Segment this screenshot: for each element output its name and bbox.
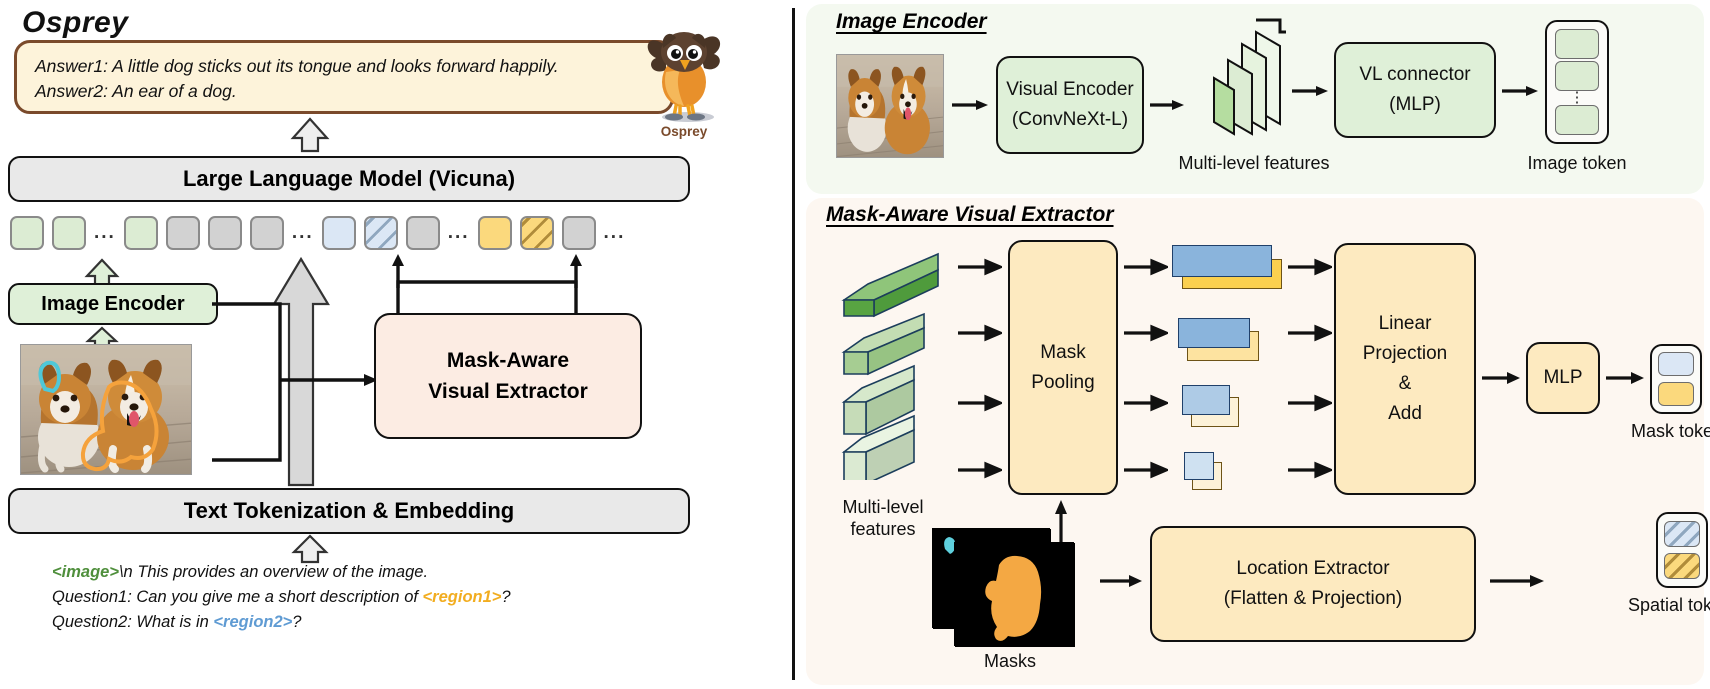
token-gray — [562, 216, 596, 250]
pooled-feature-pair — [1178, 318, 1268, 362]
token-ellipsis: ... — [604, 222, 626, 244]
image-encoder-panel-title: Image Encoder — [836, 10, 987, 34]
arrows-pooled-to-linear — [1288, 258, 1332, 490]
llm-label: Large Language Model (Vicuna) — [183, 166, 515, 192]
mave-multi-level-caption: Multi-level features — [818, 496, 948, 540]
spatial-token-stack — [1656, 512, 1708, 588]
pooled-blue — [1172, 245, 1272, 277]
mask-pooling-block: Mask Pooling — [1008, 240, 1118, 495]
prompt-line-3: Question2: What is in <region2>? — [52, 610, 511, 635]
mask-pooling-label-line2: Pooling — [1031, 368, 1094, 398]
mask-token-yellow — [1658, 382, 1694, 406]
text-tokenization-label: Text Tokenization & Embedding — [184, 498, 514, 524]
token-yellow-hatch — [520, 216, 554, 250]
region1-tag: <region1> — [423, 588, 502, 606]
vl-connector-label-line1: VL connector — [1359, 60, 1470, 90]
image-token-item — [1555, 105, 1599, 135]
pooled-feature-pair — [1184, 452, 1244, 494]
visual-encoder-label-line1: Visual Encoder — [1006, 75, 1133, 105]
prompt-text: <image>\n This provides an overview of t… — [52, 560, 511, 635]
spatial-token-caption: Spatial token — [1596, 594, 1710, 616]
panel-divider — [792, 8, 795, 680]
token-blue — [322, 216, 356, 250]
osprey-mascot-icon — [636, 18, 732, 126]
mascot-label: Osprey — [636, 124, 732, 139]
token-gray — [406, 216, 440, 250]
diagram-root: Osprey Answer1: A little dog sticks out … — [0, 0, 1710, 689]
masks-images — [932, 528, 1090, 648]
location-extractor-block: Location Extractor (Flatten & Projection… — [1150, 526, 1476, 642]
arrows-features-to-mask-pooling — [958, 258, 1002, 490]
prompt-line-1: <image>\n This provides an overview of t… — [52, 560, 511, 585]
pooled-blue — [1182, 385, 1230, 415]
page-title: Osprey — [22, 6, 128, 40]
arrow-features-to-vl — [1292, 82, 1330, 100]
image-token-vdots: ⋮ — [1570, 93, 1585, 103]
arrow-llm-to-bubble — [288, 116, 332, 154]
arrow-masks-to-location-extractor — [1100, 572, 1144, 590]
mave-panel-title: Mask-Aware Visual Extractor — [826, 203, 1114, 227]
prompt-line-2: Question1: Can you give me a short descr… — [52, 585, 511, 610]
pooled-feature-pair — [1182, 385, 1258, 429]
arrow-linear-to-mlp — [1482, 369, 1522, 387]
linear-projection-add-block: Linear Projection & Add — [1334, 243, 1476, 495]
arrow-location-to-spatial-token — [1490, 572, 1546, 590]
prompt-line-2-pre: Question1: Can you give me a short descr… — [52, 588, 423, 606]
image-encoder-label: Image Encoder — [41, 293, 184, 316]
mask-aware-visual-extractor-block: Mask-Aware Visual Extractor — [374, 313, 642, 439]
connector-to-mave — [208, 300, 388, 466]
answer-line-1: Answer1: A little dog sticks out its ton… — [35, 54, 653, 79]
masks-caption: Masks — [940, 650, 1080, 672]
visual-encoder-label-line2: (ConvNeXt-L) — [1012, 105, 1128, 135]
token-sequence: ... ... ... ... — [10, 214, 710, 252]
mave-multi-level-caption-line2: features — [818, 518, 948, 540]
token-gray — [208, 216, 242, 250]
linear-projection-label-line3: & — [1399, 369, 1412, 399]
llm-block: Large Language Model (Vicuna) — [8, 156, 690, 202]
mave-label-line2: Visual Extractor — [428, 376, 588, 407]
multi-level-features-caption: Multi-level features — [1154, 152, 1354, 174]
arrow-vl-to-image-token — [1502, 82, 1540, 100]
arrows-pooling-to-features — [1124, 258, 1168, 490]
arrow-gap-1 — [1262, 252, 1292, 270]
image-token-caption: Image token — [1497, 152, 1657, 174]
spatial-token-yellow-hatch — [1664, 553, 1700, 579]
mask-pooling-label-line1: Mask — [1040, 338, 1085, 368]
mask-token-stack — [1650, 344, 1702, 414]
visual-encoder-block: Visual Encoder (ConvNeXt-L) — [996, 56, 1144, 154]
token-gray — [250, 216, 284, 250]
token-green — [124, 216, 158, 250]
answer-bubble: Answer1: A little dog sticks out its ton… — [14, 40, 674, 114]
image-encoder-block: Image Encoder — [8, 283, 218, 325]
pooled-blue — [1184, 452, 1214, 480]
location-extractor-label-line1: Location Extractor — [1236, 554, 1389, 584]
mask-token-caption: Mask token — [1604, 420, 1710, 442]
token-ellipsis: ... — [94, 222, 116, 244]
input-image — [20, 344, 192, 475]
pooled-blue — [1178, 318, 1250, 348]
token-gray — [166, 216, 200, 250]
mask-image-front — [954, 542, 1074, 646]
mask-token-blue — [1658, 352, 1694, 376]
token-green — [10, 216, 44, 250]
linear-projection-label-line2: Projection — [1363, 339, 1448, 369]
input-image-thumbnail — [836, 54, 944, 158]
prompt-line-2-post: ? — [501, 588, 510, 606]
prompt-line-3-pre: Question2: What is in — [52, 613, 213, 631]
arrow-encoder-to-features — [1150, 96, 1186, 114]
arrows-mave-to-tokens — [388, 254, 588, 316]
prompt-line-1-rest: \n This provides an overview of the imag… — [119, 563, 428, 581]
region2-tag: <region2> — [213, 613, 292, 631]
linear-projection-label-line1: Linear — [1379, 309, 1432, 339]
linear-projection-label-line4: Add — [1388, 399, 1422, 429]
vl-connector-block: VL connector (MLP) — [1334, 42, 1496, 138]
token-blue-hatch — [364, 216, 398, 250]
text-tokenization-block: Text Tokenization & Embedding — [8, 488, 690, 534]
mlp-label: MLP — [1543, 363, 1582, 393]
mave-multi-level-caption-line1: Multi-level — [818, 496, 948, 518]
spatial-token-blue-hatch — [1664, 521, 1700, 547]
token-green — [52, 216, 86, 250]
image-token-item — [1555, 61, 1599, 91]
arrow-mlp-to-mask-token — [1606, 369, 1646, 387]
vl-connector-label-line2: (MLP) — [1389, 90, 1441, 120]
token-ellipsis: ... — [292, 222, 314, 244]
location-extractor-label-line2: (Flatten & Projection) — [1224, 584, 1402, 614]
answer-line-2: Answer2: An ear of a dog. — [35, 79, 653, 104]
mlp-block: MLP — [1526, 342, 1600, 414]
image-token-stack: ⋮ — [1545, 20, 1609, 144]
arrow-thumb-to-visual-encoder — [952, 96, 990, 114]
image-tag: <image> — [52, 563, 119, 581]
mave-label-line1: Mask-Aware — [447, 345, 569, 376]
multi-level-feature-cubes — [838, 248, 960, 480]
token-yellow — [478, 216, 512, 250]
multi-level-feature-planes — [1184, 16, 1294, 148]
prompt-line-3-post: ? — [292, 613, 301, 631]
token-ellipsis: ... — [448, 222, 470, 244]
image-token-item — [1555, 29, 1599, 59]
